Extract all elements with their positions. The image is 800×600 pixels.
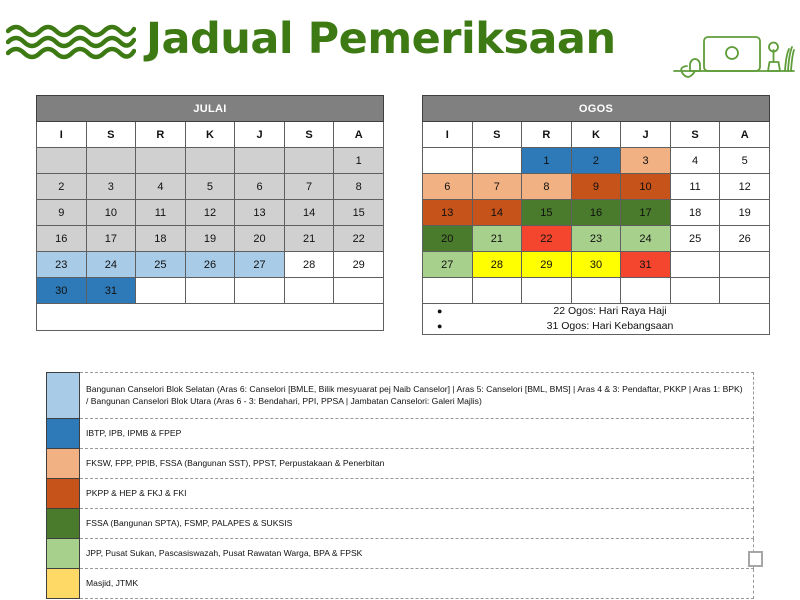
- legend-swatch-yellow: [47, 569, 80, 599]
- calendar-empty-cell[interactable]: [284, 278, 334, 304]
- legend-swatch-light-blue: [47, 373, 80, 419]
- calendar-day-cell[interactable]: 13: [235, 200, 285, 226]
- calendar-day-cell[interactable]: 30: [37, 278, 87, 304]
- calendar-week-row: 3031: [37, 278, 384, 304]
- calendar-day-cell[interactable]: 24: [621, 226, 671, 252]
- calendar-empty-cell[interactable]: [185, 278, 235, 304]
- calendar-notes-cell: [37, 304, 384, 331]
- calendar-day-cell[interactable]: 16: [571, 200, 621, 226]
- calendar-day-cell[interactable]: 5: [720, 148, 770, 174]
- calendar-day-cell[interactable]: 4: [670, 148, 720, 174]
- calendar-empty-cell[interactable]: [472, 278, 522, 304]
- calendar-day-cell[interactable]: 16: [37, 226, 87, 252]
- calendar-day-cell[interactable]: 1: [522, 148, 572, 174]
- calendar-day-cell[interactable]: 31: [621, 252, 671, 278]
- calendar-dow-header: S: [86, 122, 136, 148]
- calendar-day-cell[interactable]: 2: [571, 148, 621, 174]
- calendar-day-cell[interactable]: 10: [621, 174, 671, 200]
- desk-laptop-plant-icon: [672, 24, 796, 86]
- calendar-day-cell[interactable]: 28: [284, 252, 334, 278]
- calendar-day-cell[interactable]: 12: [720, 174, 770, 200]
- calendar-day-cell[interactable]: 30: [571, 252, 621, 278]
- calendar-day-cell[interactable]: 1: [334, 148, 384, 174]
- calendar-day-cell[interactable]: 14: [284, 200, 334, 226]
- calendar-day-cell[interactable]: 5: [185, 174, 235, 200]
- calendar-empty-cell[interactable]: [670, 278, 720, 304]
- calendar-day-cell[interactable]: 28: [472, 252, 522, 278]
- legend-description: PKPP & HEP & FKJ & FKI: [80, 479, 754, 509]
- legend-description: FSSA (Bangunan SPTA), FSMP, PALAPES & SU…: [80, 509, 754, 539]
- calendar-day-cell[interactable]: 25: [670, 226, 720, 252]
- legend-description: FKSW, FPP, PPIB, FSSA (Bangunan SST), PP…: [80, 449, 754, 479]
- calendar-empty-cell[interactable]: [136, 148, 186, 174]
- legend-table: Bangunan Canselori Blok Selatan (Aras 6:…: [46, 372, 754, 599]
- calendar-day-cell[interactable]: 9: [571, 174, 621, 200]
- calendar-empty-cell[interactable]: [720, 278, 770, 304]
- legend-description: IBTP, IPB, IPMB & FPEP: [80, 419, 754, 449]
- calendar-day-cell[interactable]: 21: [284, 226, 334, 252]
- calendar-day-cell[interactable]: 29: [334, 252, 384, 278]
- calendar-julai: JULAIISRKJSA1234567891011121314151617181…: [36, 95, 384, 331]
- calendar-day-cell[interactable]: 7: [284, 174, 334, 200]
- calendar-dow-header: J: [621, 122, 671, 148]
- calendar-day-cell[interactable]: 17: [86, 226, 136, 252]
- calendar-day-cell[interactable]: 15: [522, 200, 572, 226]
- legend-swatch-peach: [47, 449, 80, 479]
- legend-body: Bangunan Canselori Blok Selatan (Aras 6:…: [47, 373, 754, 599]
- calendar-day-cell[interactable]: 15: [334, 200, 384, 226]
- calendar-day-cell[interactable]: 22: [334, 226, 384, 252]
- calendar-day-cell[interactable]: 17: [621, 200, 671, 226]
- calendar-notes-cell: ●22 Ogos: Hari Raya Haji●31 Ogos: Hari K…: [423, 304, 770, 335]
- legend-description: Bangunan Canselori Blok Selatan (Aras 6:…: [80, 373, 754, 419]
- legend-swatch-dark-orange: [47, 479, 80, 509]
- calendar-note-item: ●22 Ogos: Hari Raya Haji: [423, 304, 769, 319]
- calendar-dow-header: I: [37, 122, 87, 148]
- legend-swatch-dark-green: [47, 509, 80, 539]
- legend-swatch-dark-blue: [47, 419, 80, 449]
- calendar-day-cell[interactable]: 18: [670, 200, 720, 226]
- calendar-empty-cell[interactable]: [185, 148, 235, 174]
- calendar-empty-cell[interactable]: [522, 278, 572, 304]
- calendar-note-item: ●31 Ogos: Hari Kebangsaan: [423, 319, 769, 334]
- calendar-day-cell[interactable]: 22: [522, 226, 572, 252]
- calendar-day-cell[interactable]: 9: [37, 200, 87, 226]
- calendar-day-cell[interactable]: 11: [670, 174, 720, 200]
- calendar-dow-header: S: [472, 122, 522, 148]
- calendar-week-row: 9101112131415: [37, 200, 384, 226]
- calendar-day-cell[interactable]: 8: [334, 174, 384, 200]
- calendar-dow-header: S: [284, 122, 334, 148]
- calendar-month-title: OGOS: [423, 96, 770, 122]
- calendar-empty-cell[interactable]: [423, 278, 473, 304]
- calendar-week-row: 20212223242526: [423, 226, 770, 252]
- calendar-note-text: 31 Ogos: Hari Kebangsaan: [547, 320, 674, 332]
- legend-swatch-light-green: [47, 539, 80, 569]
- calendar-day-cell[interactable]: 3: [86, 174, 136, 200]
- calendar-empty-cell[interactable]: [136, 278, 186, 304]
- calendar-day-cell[interactable]: 20: [235, 226, 285, 252]
- calendar-week-row: 12345: [423, 148, 770, 174]
- calendar-day-cell[interactable]: 19: [185, 226, 235, 252]
- calendar-day-cell[interactable]: 31: [86, 278, 136, 304]
- legend-description: JPP, Pusat Sukan, Pascasiswazah, Pusat R…: [80, 539, 754, 569]
- calendar-dow-header: R: [522, 122, 572, 148]
- calendar-dow-header: J: [235, 122, 285, 148]
- calendar-month-title: JULAI: [37, 96, 384, 122]
- calendar-julai-body: JULAIISRKJSA1234567891011121314151617181…: [37, 96, 384, 331]
- legend-description: Masjid, JTMK: [80, 569, 754, 599]
- calendar-dow-header: A: [334, 122, 384, 148]
- calendar-day-cell[interactable]: 12: [185, 200, 235, 226]
- calendar-day-cell[interactable]: 7: [472, 174, 522, 200]
- calendar-day-cell[interactable]: 6: [423, 174, 473, 200]
- calendar-day-cell[interactable]: 14: [472, 200, 522, 226]
- calendar-ogos: OGOSISRKJSA12345678910111213141516171819…: [422, 95, 770, 335]
- calendar-day-cell[interactable]: 27: [235, 252, 285, 278]
- calendar-week-row: 1: [37, 148, 384, 174]
- calendar-empty-cell[interactable]: [670, 252, 720, 278]
- calendar-week-row: 6789101112: [423, 174, 770, 200]
- calendar-week-row: 2345678: [37, 174, 384, 200]
- calendar-empty-cell[interactable]: [334, 278, 384, 304]
- calendar-note-text: 22 Ogos: Hari Raya Haji: [553, 305, 666, 317]
- calendar-day-cell[interactable]: 27: [423, 252, 473, 278]
- calendar-day-cell[interactable]: 11: [136, 200, 186, 226]
- calendar-dow-header: I: [423, 122, 473, 148]
- calendar-week-row: 13141516171819: [423, 200, 770, 226]
- calendar-day-cell[interactable]: 21: [472, 226, 522, 252]
- page-title: Jadual Pemeriksaan: [146, 14, 616, 64]
- calendar-day-cell[interactable]: 23: [571, 226, 621, 252]
- calendar-week-row: 2728293031: [423, 252, 770, 278]
- calendar-day-cell[interactable]: 10: [86, 200, 136, 226]
- legend-row: Masjid, JTMK: [47, 569, 754, 599]
- calendar-ogos-body: OGOSISRKJSA12345678910111213141516171819…: [423, 96, 770, 335]
- legend-row: Bangunan Canselori Blok Selatan (Aras 6:…: [47, 373, 754, 419]
- resize-handle[interactable]: [748, 551, 763, 567]
- calendar-empty-cell[interactable]: [235, 278, 285, 304]
- calendar-week-row: 23242526272829: [37, 252, 384, 278]
- legend-row: IBTP, IPB, IPMB & FPEP: [47, 419, 754, 449]
- page-header: Jadual Pemeriksaan: [0, 0, 800, 92]
- calendar-empty-cell[interactable]: [720, 252, 770, 278]
- calendar-day-cell[interactable]: 26: [720, 226, 770, 252]
- calendar-empty-cell[interactable]: [86, 148, 136, 174]
- calendar-dow-header: K: [571, 122, 621, 148]
- calendar-day-cell[interactable]: 24: [86, 252, 136, 278]
- calendar-week-row: [423, 278, 770, 304]
- calendar-dow-header: R: [136, 122, 186, 148]
- legend-row: FSSA (Bangunan SPTA), FSMP, PALAPES & SU…: [47, 509, 754, 539]
- calendar-day-cell[interactable]: 19: [720, 200, 770, 226]
- calendar-day-cell[interactable]: 2: [37, 174, 87, 200]
- calendar-empty-cell[interactable]: [37, 148, 87, 174]
- calendar-day-cell[interactable]: 8: [522, 174, 572, 200]
- calendar-empty-cell[interactable]: [423, 148, 473, 174]
- calendar-day-cell[interactable]: 13: [423, 200, 473, 226]
- calendar-dow-header: K: [185, 122, 235, 148]
- calendar-week-row: 16171819202122: [37, 226, 384, 252]
- calendar-dow-header: S: [670, 122, 720, 148]
- calendar-day-cell[interactable]: 20: [423, 226, 473, 252]
- wave-lines-icon: [6, 24, 136, 62]
- calendar-empty-cell[interactable]: [621, 278, 671, 304]
- legend-row: FKSW, FPP, PPIB, FSSA (Bangunan SST), PP…: [47, 449, 754, 479]
- legend-row: JPP, Pusat Sukan, Pascasiswazah, Pusat R…: [47, 539, 754, 569]
- calendar-day-cell[interactable]: 25: [136, 252, 186, 278]
- calendar-empty-cell[interactable]: [472, 148, 522, 174]
- bullet-icon: ●: [437, 304, 442, 319]
- bullet-icon: ●: [437, 319, 442, 334]
- calendar-day-cell[interactable]: 29: [522, 252, 572, 278]
- calendar-empty-cell[interactable]: [235, 148, 285, 174]
- calendar-day-cell[interactable]: 3: [621, 148, 671, 174]
- calendar-day-cell[interactable]: 23: [37, 252, 87, 278]
- legend-row: PKPP & HEP & FKJ & FKI: [47, 479, 754, 509]
- calendar-day-cell[interactable]: 26: [185, 252, 235, 278]
- calendar-empty-cell[interactable]: [571, 278, 621, 304]
- calendar-day-cell[interactable]: 18: [136, 226, 186, 252]
- calendar-day-cell[interactable]: 6: [235, 174, 285, 200]
- calendar-empty-cell[interactable]: [284, 148, 334, 174]
- calendar-day-cell[interactable]: 4: [136, 174, 186, 200]
- calendar-dow-header: A: [720, 122, 770, 148]
